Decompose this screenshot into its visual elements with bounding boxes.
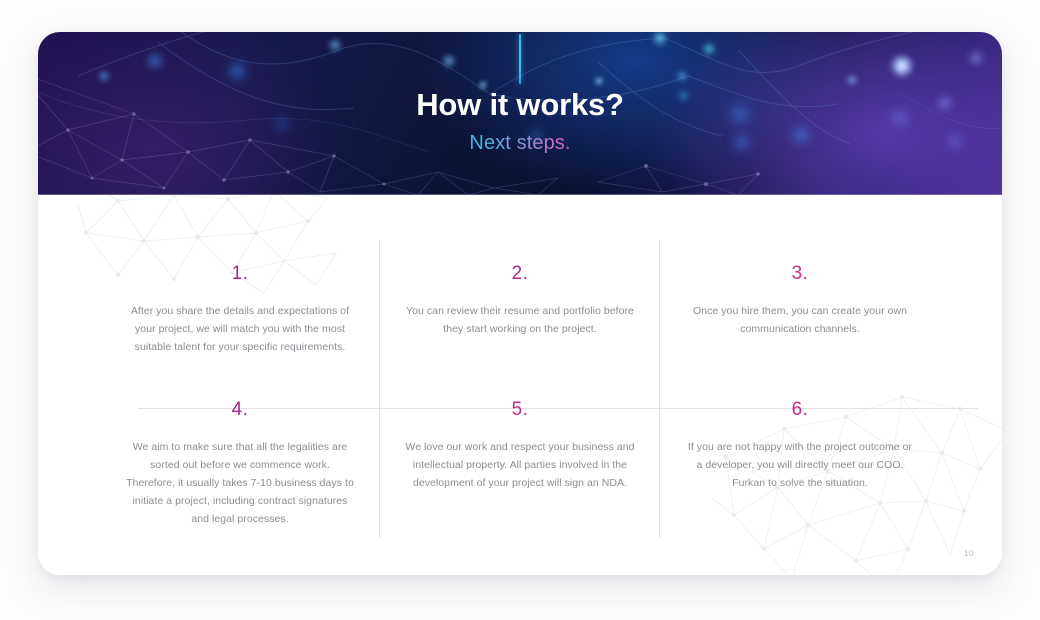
step-number-1: 1. (118, 264, 362, 283)
step-number-2: 2. (398, 264, 642, 283)
page-subtitle: Next steps. (469, 132, 570, 155)
step-text-5: We love our work and respect your busine… (405, 438, 635, 492)
accent-tick (519, 34, 521, 84)
step-cell-6: 6. If you are not happy with the project… (660, 400, 940, 536)
hero-title-block: How it works? Next steps. (38, 87, 1002, 155)
step-text-4: We aim to make sure that all the legalit… (125, 438, 355, 528)
hero-banner: How it works? Next steps. (38, 32, 1002, 195)
step-cell-2: 2. You can review their resume and portf… (380, 264, 660, 400)
step-cell-1: 1. After you share the details and expec… (100, 264, 380, 400)
step-cell-4: 4. We aim to make sure that all the lega… (100, 400, 380, 536)
step-number-4: 4. (118, 400, 362, 419)
step-cell-5: 5. We love our work and respect your bus… (380, 400, 660, 536)
step-text-6: If you are not happy with the project ou… (685, 438, 915, 492)
step-number-3: 3. (678, 264, 922, 283)
page-number: 10 (964, 548, 974, 558)
step-text-3: Once you hire them, you can create your … (685, 302, 915, 338)
page-title: How it works? (38, 87, 1002, 123)
step-cell-3: 3. Once you hire them, you can create yo… (660, 264, 940, 400)
slide-card: How it works? Next steps. (38, 32, 1002, 575)
content-area: 1. After you share the details and expec… (38, 195, 1002, 575)
step-number-5: 5. (398, 400, 642, 419)
steps-grid: 1. After you share the details and expec… (100, 264, 940, 536)
hero-subtitle-wrap: Next steps. (38, 123, 1002, 155)
step-text-1: After you share the details and expectat… (125, 302, 355, 356)
step-text-2: You can review their resume and portfoli… (405, 302, 635, 338)
step-number-6: 6. (678, 400, 922, 419)
